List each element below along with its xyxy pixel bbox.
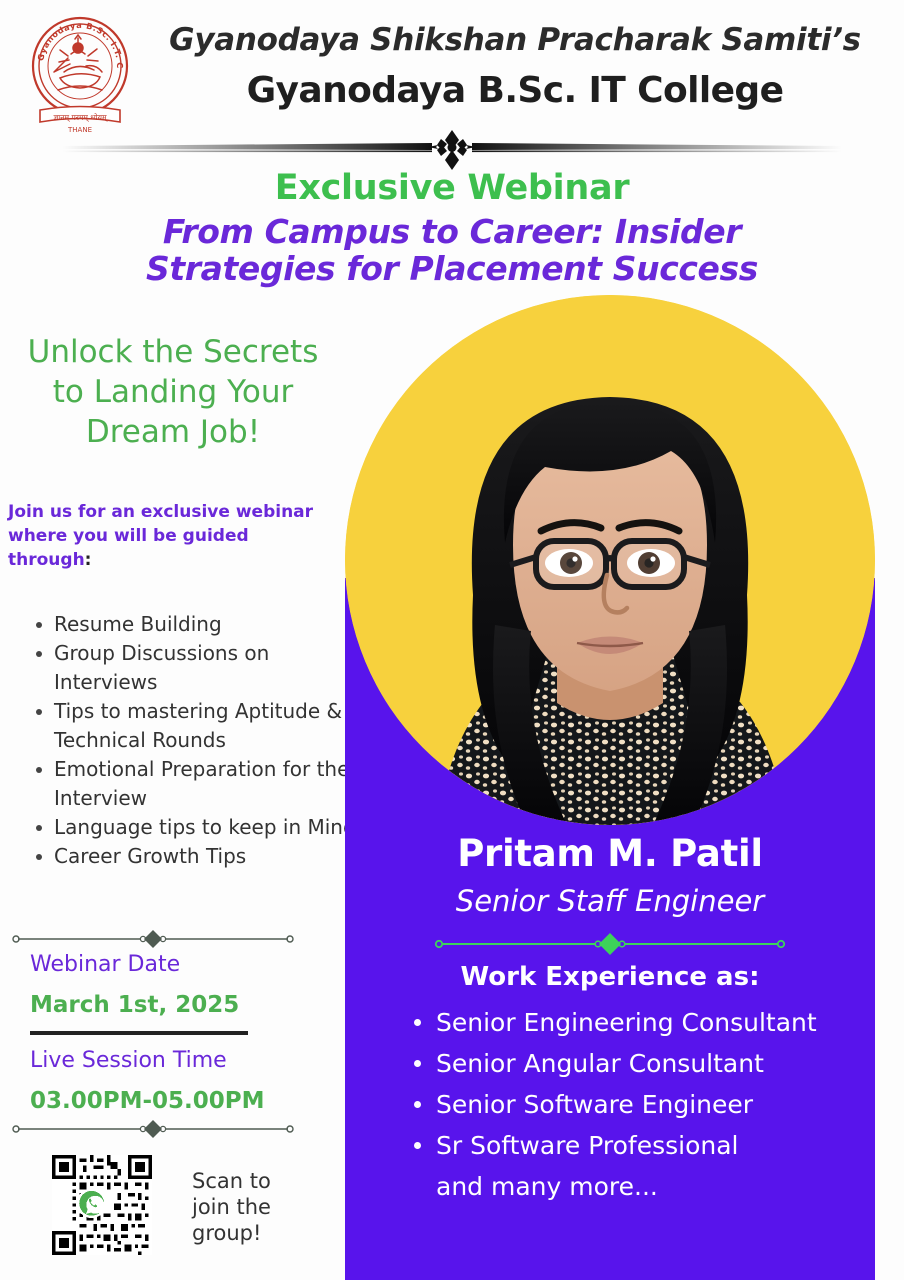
poster-header: Gyanodaya B.Sc. I.T. College ज्ञानम् पर <box>0 0 904 140</box>
qr-code-icon <box>52 1155 152 1255</box>
list-item: Resume Building <box>54 610 374 639</box>
poster-root: Gyanodaya B.Sc. I.T. College ज्ञानम् पर <box>0 0 904 1280</box>
ornament-divider-bottom <box>8 1118 298 1140</box>
agenda-list: Resume Building Group Discussions on Int… <box>28 610 374 871</box>
speaker-role: Senior Staff Engineer <box>345 884 875 918</box>
list-item: Language tips to keep in Mind <box>54 813 374 842</box>
scan-line-1: Scan to <box>192 1168 322 1194</box>
webinar-date-label: Webinar Date <box>30 952 180 977</box>
date-time-separator-rule <box>30 1031 248 1035</box>
header-divider-ornament <box>0 126 904 170</box>
list-item: Senior Engineering Consultant <box>436 1002 904 1043</box>
intro-line-1: Join us for an exclusive webinar <box>8 500 344 524</box>
list-item: Senior Software Engineer <box>436 1084 904 1125</box>
college-name: Gyanodaya B.Sc. IT College <box>150 70 880 111</box>
live-time-label: Live Session Time <box>30 1048 227 1073</box>
logo-emblem-icon: Gyanodaya B.Sc. I.T. College ज्ञानम् पर <box>24 14 136 134</box>
speaker-portrait <box>345 295 875 825</box>
scan-line-2: join the <box>192 1194 322 1220</box>
webinar-subtitle: From Campus to Career: Insider Strategie… <box>100 213 804 287</box>
scan-instruction: Scan to join the group! <box>192 1168 322 1246</box>
list-item: Emotional Preparation for the Interview <box>54 755 374 813</box>
list-item: Group Discussions on Interviews <box>54 639 374 697</box>
subtitle-line-1: From Campus to Career: Insider <box>100 213 804 250</box>
hook-line-1: Unlock the Secrets <box>8 332 338 372</box>
speaker-photo-circle <box>345 295 875 825</box>
work-experience-header: Work Experience as: <box>345 962 875 992</box>
scan-line-3: group! <box>192 1220 322 1246</box>
intro-line-2: where you will be guided <box>8 524 344 548</box>
webinar-date-value: March 1st, 2025 <box>30 992 239 1018</box>
intro-colon: : <box>85 550 92 570</box>
whatsapp-qr-code[interactable] <box>52 1155 152 1255</box>
college-logo: Gyanodaya B.Sc. I.T. College ज्ञानम् पर <box>24 14 136 134</box>
ornament-divider-top <box>8 928 298 950</box>
list-item: Senior Angular Consultant <box>436 1043 904 1084</box>
list-item: Tips to mastering Aptitude & Technical R… <box>54 697 374 755</box>
list-item: Career Growth Tips <box>54 842 374 871</box>
ornament-divider-green <box>430 932 790 956</box>
speaker-name: Pritam M. Patil <box>345 832 875 875</box>
work-experience-list: Senior Engineering Consultant Senior Ang… <box>400 1002 904 1207</box>
work-experience-tail: and many more... <box>436 1166 904 1207</box>
intro-line-3: through: <box>8 548 344 572</box>
intro-paragraph: Join us for an exclusive webinar where y… <box>8 500 344 572</box>
svg-text:ज्ञानम् परमम् ध्येयम्: ज्ञानम् परमम् ध्येयम् <box>53 113 107 122</box>
intro-line-3-text: through <box>8 550 85 570</box>
subtitle-line-2: Strategies for Placement Success <box>100 250 804 287</box>
list-item: Sr Software Professional <box>436 1125 904 1166</box>
hook-line-2: to Landing Your <box>8 372 338 412</box>
organization-name: Gyanodaya Shikshan Pracharak Samiti’s <box>150 22 880 58</box>
live-time-value: 03.00PM-05.00PM <box>30 1088 265 1114</box>
hook-text: Unlock the Secrets to Landing Your Dream… <box>8 332 338 452</box>
eyebrow-title: Exclusive Webinar <box>0 168 904 208</box>
hook-line-3: Dream Job! <box>8 412 338 452</box>
